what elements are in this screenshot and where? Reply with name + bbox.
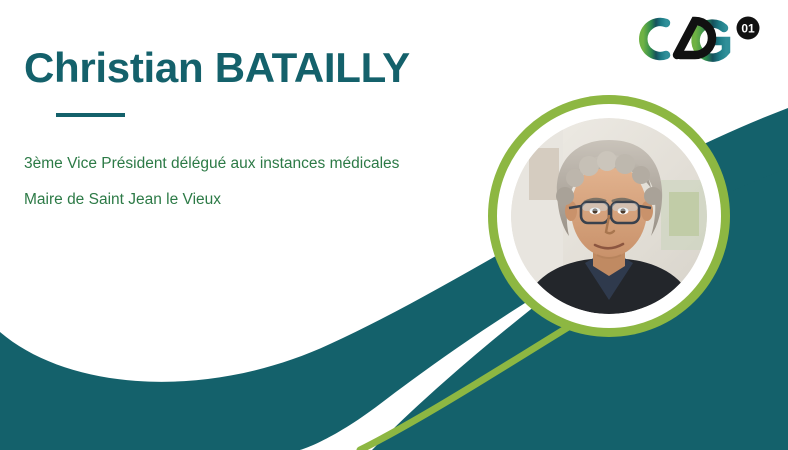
logo-badge-text: 01 [741,22,755,36]
role-primary: 3ème Vice Président délégué aux instance… [24,155,464,173]
avatar [511,118,707,314]
title-divider [56,113,125,117]
brand-logo: 01 [620,10,770,64]
role-secondary: Maire de Saint Jean le Vieux [24,191,464,209]
logo-letter-c [643,22,666,56]
page-title: Christian BATAILLY [24,46,464,91]
avatar-ring [488,95,730,337]
speaker-text-block: Christian BATAILLY 3ème Vice Président d… [24,46,464,209]
slide-root: 01 Christian BATAILLY 3ème Vice Présiden… [0,0,788,450]
